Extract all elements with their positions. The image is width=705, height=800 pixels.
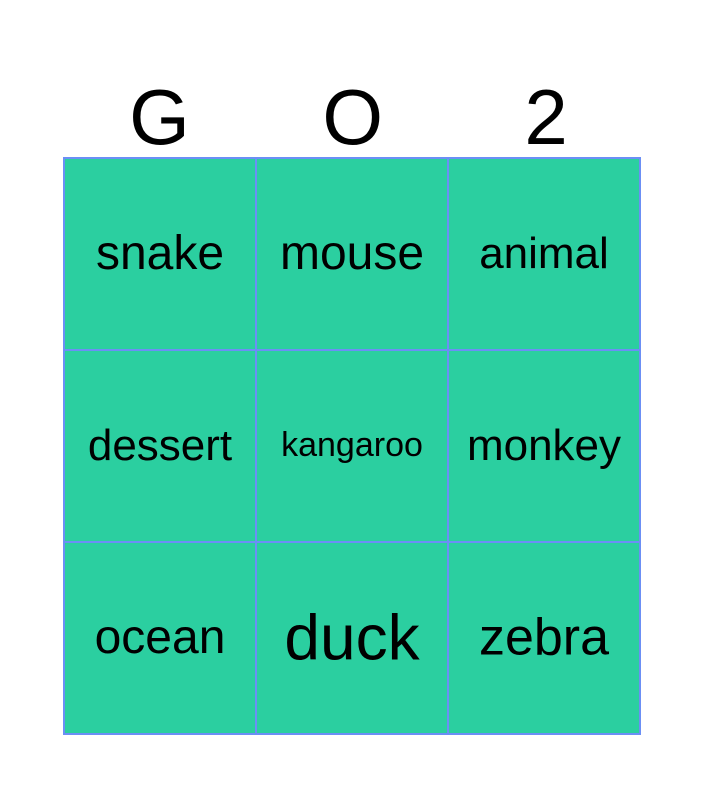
bingo-cell-label: kangaroo — [257, 428, 447, 464]
bingo-grid: snake mouse animal dessert kangaroo monk… — [63, 157, 641, 735]
bingo-cell-r3c3[interactable]: zebra — [449, 543, 641, 735]
bingo-cell-r1c2[interactable]: mouse — [257, 159, 449, 351]
bingo-header-letter-g: G — [129, 82, 190, 154]
bingo-cell-label: dessert — [65, 423, 255, 469]
bingo-cell-label: mouse — [257, 229, 447, 279]
bingo-cell-label: duck — [257, 604, 447, 671]
bingo-header-row: G O 2 — [63, 58, 643, 154]
bingo-cell-r2c1[interactable]: dessert — [65, 351, 257, 543]
bingo-cell-label: animal — [449, 231, 639, 277]
bingo-cell-label: monkey — [449, 423, 639, 469]
bingo-cell-r2c3[interactable]: monkey — [449, 351, 641, 543]
bingo-cell-label: ocean — [65, 613, 255, 663]
bingo-header-cell-3: 2 — [450, 58, 643, 154]
bingo-header-letter-o: O — [322, 82, 383, 154]
bingo-header-letter-2: 2 — [524, 82, 568, 154]
bingo-cell-label: zebra — [449, 611, 639, 666]
bingo-cell-r1c1[interactable]: snake — [65, 159, 257, 351]
bingo-header-cell-2: O — [256, 58, 449, 154]
bingo-cell-r3c2[interactable]: duck — [257, 543, 449, 735]
bingo-card: G O 2 snake mouse animal dessert kangaro… — [0, 0, 705, 800]
bingo-cell-r1c3[interactable]: animal — [449, 159, 641, 351]
bingo-cell-r2c2[interactable]: kangaroo — [257, 351, 449, 543]
bingo-cell-label: snake — [65, 229, 255, 279]
bingo-header-cell-1: G — [63, 58, 256, 154]
bingo-cell-r3c1[interactable]: ocean — [65, 543, 257, 735]
